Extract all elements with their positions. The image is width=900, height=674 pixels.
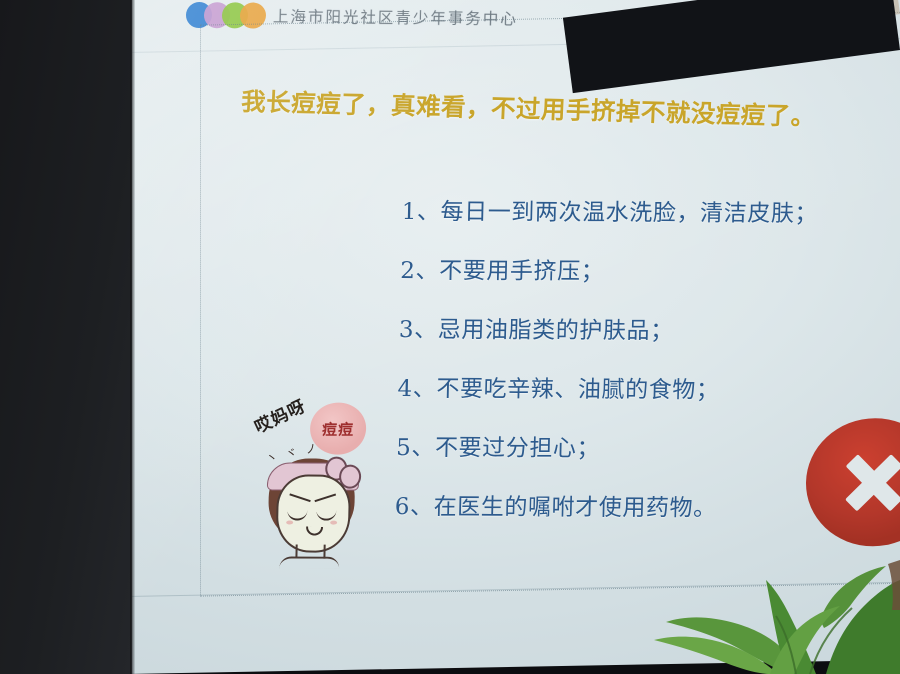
pimple-bubble-text: 痘痘 <box>322 418 354 439</box>
face-icon <box>276 474 352 552</box>
mouth-icon <box>306 527 323 536</box>
slide-content: 上海市阳光社区青少年事务中心 我长痘痘了，真难看，不过用手挤掉不就没痘痘了。 1… <box>164 0 894 659</box>
dark-wall-left <box>0 0 132 674</box>
cartoon-shout-text: 哎妈呀 <box>250 392 310 438</box>
worried-girl-cartoon: 哎妈呀 痘痘 ヽ ヾ ノ <box>247 394 381 569</box>
shoulder-icon <box>279 556 339 568</box>
list-item: 1、每日一到两次温水洗脸，清洁皮肤； <box>401 201 900 227</box>
eye-right-icon <box>316 509 336 521</box>
cartoon-head <box>263 452 361 562</box>
list-item: 3、忌用油脂类的护肤品； <box>399 319 900 345</box>
eye-left-icon <box>287 508 307 520</box>
screenshot-root: 上海市阳光社区青少年事务中心 我长痘痘了，真难看，不过用手挤掉不就没痘痘了。 1… <box>0 0 900 674</box>
cheek-right-icon <box>330 521 337 525</box>
projection-screen: 上海市阳光社区青少年事务中心 我长痘痘了，真难看，不过用手挤掉不就没痘痘了。 1… <box>126 0 900 674</box>
list-item: 2、不要用手挤压； <box>400 260 900 286</box>
cheek-left-icon <box>286 520 293 524</box>
list-item: 4、不要吃辛辣、油腻的食物； <box>397 378 900 404</box>
